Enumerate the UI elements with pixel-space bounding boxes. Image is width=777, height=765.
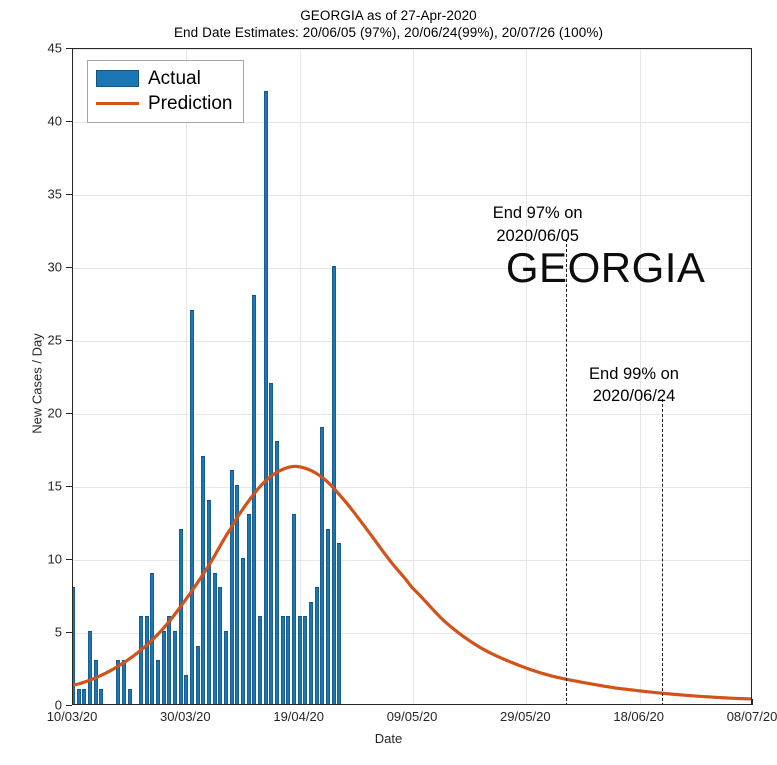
annotation-line: End 97% on (493, 202, 583, 224)
legend-label-actual: Actual (148, 68, 201, 90)
bar (286, 616, 290, 704)
bar (337, 543, 341, 704)
bar (156, 660, 160, 704)
bar (224, 631, 228, 704)
bar (230, 470, 234, 704)
bar (247, 514, 251, 704)
bar (332, 266, 336, 704)
bar (184, 675, 188, 704)
legend-label-prediction: Prediction (148, 93, 233, 115)
legend-item-actual: Actual (96, 66, 233, 91)
gridline-horizontal (73, 560, 751, 561)
y-tick-label: 25 (2, 333, 62, 348)
bar (122, 660, 126, 704)
x-tick-mark (752, 699, 753, 705)
bar (326, 529, 330, 704)
bar (116, 660, 120, 704)
gridline-vertical (186, 49, 187, 704)
x-tick-label: 29/05/20 (500, 709, 551, 724)
bar (241, 558, 245, 704)
bar (309, 602, 313, 704)
bar (213, 573, 217, 704)
legend-item-prediction: Prediction (96, 91, 233, 116)
bar (281, 616, 285, 704)
legend-swatch-prediction-icon (96, 95, 139, 112)
chart-subtitle: End Date Estimates: 20/06/05 (97%), 20/0… (0, 25, 777, 42)
bar (190, 310, 194, 704)
annotation-label-end-99: End 99% on2020/06/24 (589, 363, 679, 408)
title-block: GEORGIA as of 27-Apr-2020 End Date Estim… (0, 8, 777, 42)
bar (320, 427, 324, 704)
y-tick-label: 30 (2, 260, 62, 275)
bar (269, 383, 273, 704)
gridline-horizontal (73, 49, 751, 50)
x-axis-label: Date (0, 731, 777, 746)
bar (173, 631, 177, 704)
bar (94, 660, 98, 704)
bar (252, 295, 256, 704)
bar (207, 500, 211, 704)
annotation-vline-end-99 (662, 399, 663, 705)
gridline-horizontal (73, 487, 751, 488)
bar (201, 456, 205, 704)
annotation-label-end-97: End 97% on2020/06/05 (493, 202, 583, 247)
bar (315, 587, 319, 704)
legend-swatch-actual-icon (96, 70, 139, 87)
chart-figure: GEORGIA as of 27-Apr-2020 End Date Estim… (0, 0, 777, 765)
y-tick-label: 45 (2, 41, 62, 56)
y-tick-label: 5 (2, 625, 62, 640)
bar (196, 646, 200, 704)
y-tick-label: 15 (2, 479, 62, 494)
x-tick-label: 30/03/20 (160, 709, 211, 724)
gridline-vertical (526, 49, 527, 704)
bar (77, 689, 81, 704)
gridline-horizontal (73, 414, 751, 415)
bar (72, 587, 75, 704)
bar (303, 616, 307, 704)
bar (292, 514, 296, 704)
bar (139, 616, 143, 704)
bar (167, 616, 171, 704)
gridline-vertical (413, 49, 414, 704)
bar (145, 616, 149, 704)
x-tick-label: 18/06/20 (613, 709, 664, 724)
y-tick-label: 35 (2, 187, 62, 202)
bar (235, 485, 239, 704)
x-tick-label: 08/07/20 (727, 709, 777, 724)
y-axis-label: New Cases / Day (30, 284, 45, 484)
bar (298, 616, 302, 704)
bar (99, 689, 103, 704)
gridline-vertical (300, 49, 301, 704)
y-tick-label: 10 (2, 552, 62, 567)
annotation-line: End 99% on (589, 363, 679, 385)
chart-legend: Actual Prediction (87, 60, 244, 123)
bar (218, 587, 222, 704)
gridline-horizontal (73, 341, 751, 342)
watermark-text: GEORGIA (506, 244, 706, 292)
y-tick-label: 40 (2, 114, 62, 129)
bar (82, 689, 86, 704)
annotation-line: 2020/06/24 (589, 385, 679, 407)
bar (162, 631, 166, 704)
x-tick-label: 09/05/20 (387, 709, 438, 724)
bar (88, 631, 92, 704)
plot-area: End 97% on2020/06/05End 99% on2020/06/24… (72, 48, 752, 705)
y-tick-label: 20 (2, 406, 62, 421)
bar (128, 689, 132, 704)
bar (275, 441, 279, 704)
gridline-horizontal (73, 195, 751, 196)
chart-title: GEORGIA as of 27-Apr-2020 (0, 8, 777, 25)
bar (150, 573, 154, 704)
x-tick-label: 19/04/20 (273, 709, 324, 724)
x-tick-label: 10/03/20 (47, 709, 98, 724)
bar (258, 616, 262, 704)
bar (179, 529, 183, 704)
y-tick-mark (66, 705, 72, 706)
bar (264, 91, 268, 704)
annotation-vline-end-97 (566, 239, 567, 705)
